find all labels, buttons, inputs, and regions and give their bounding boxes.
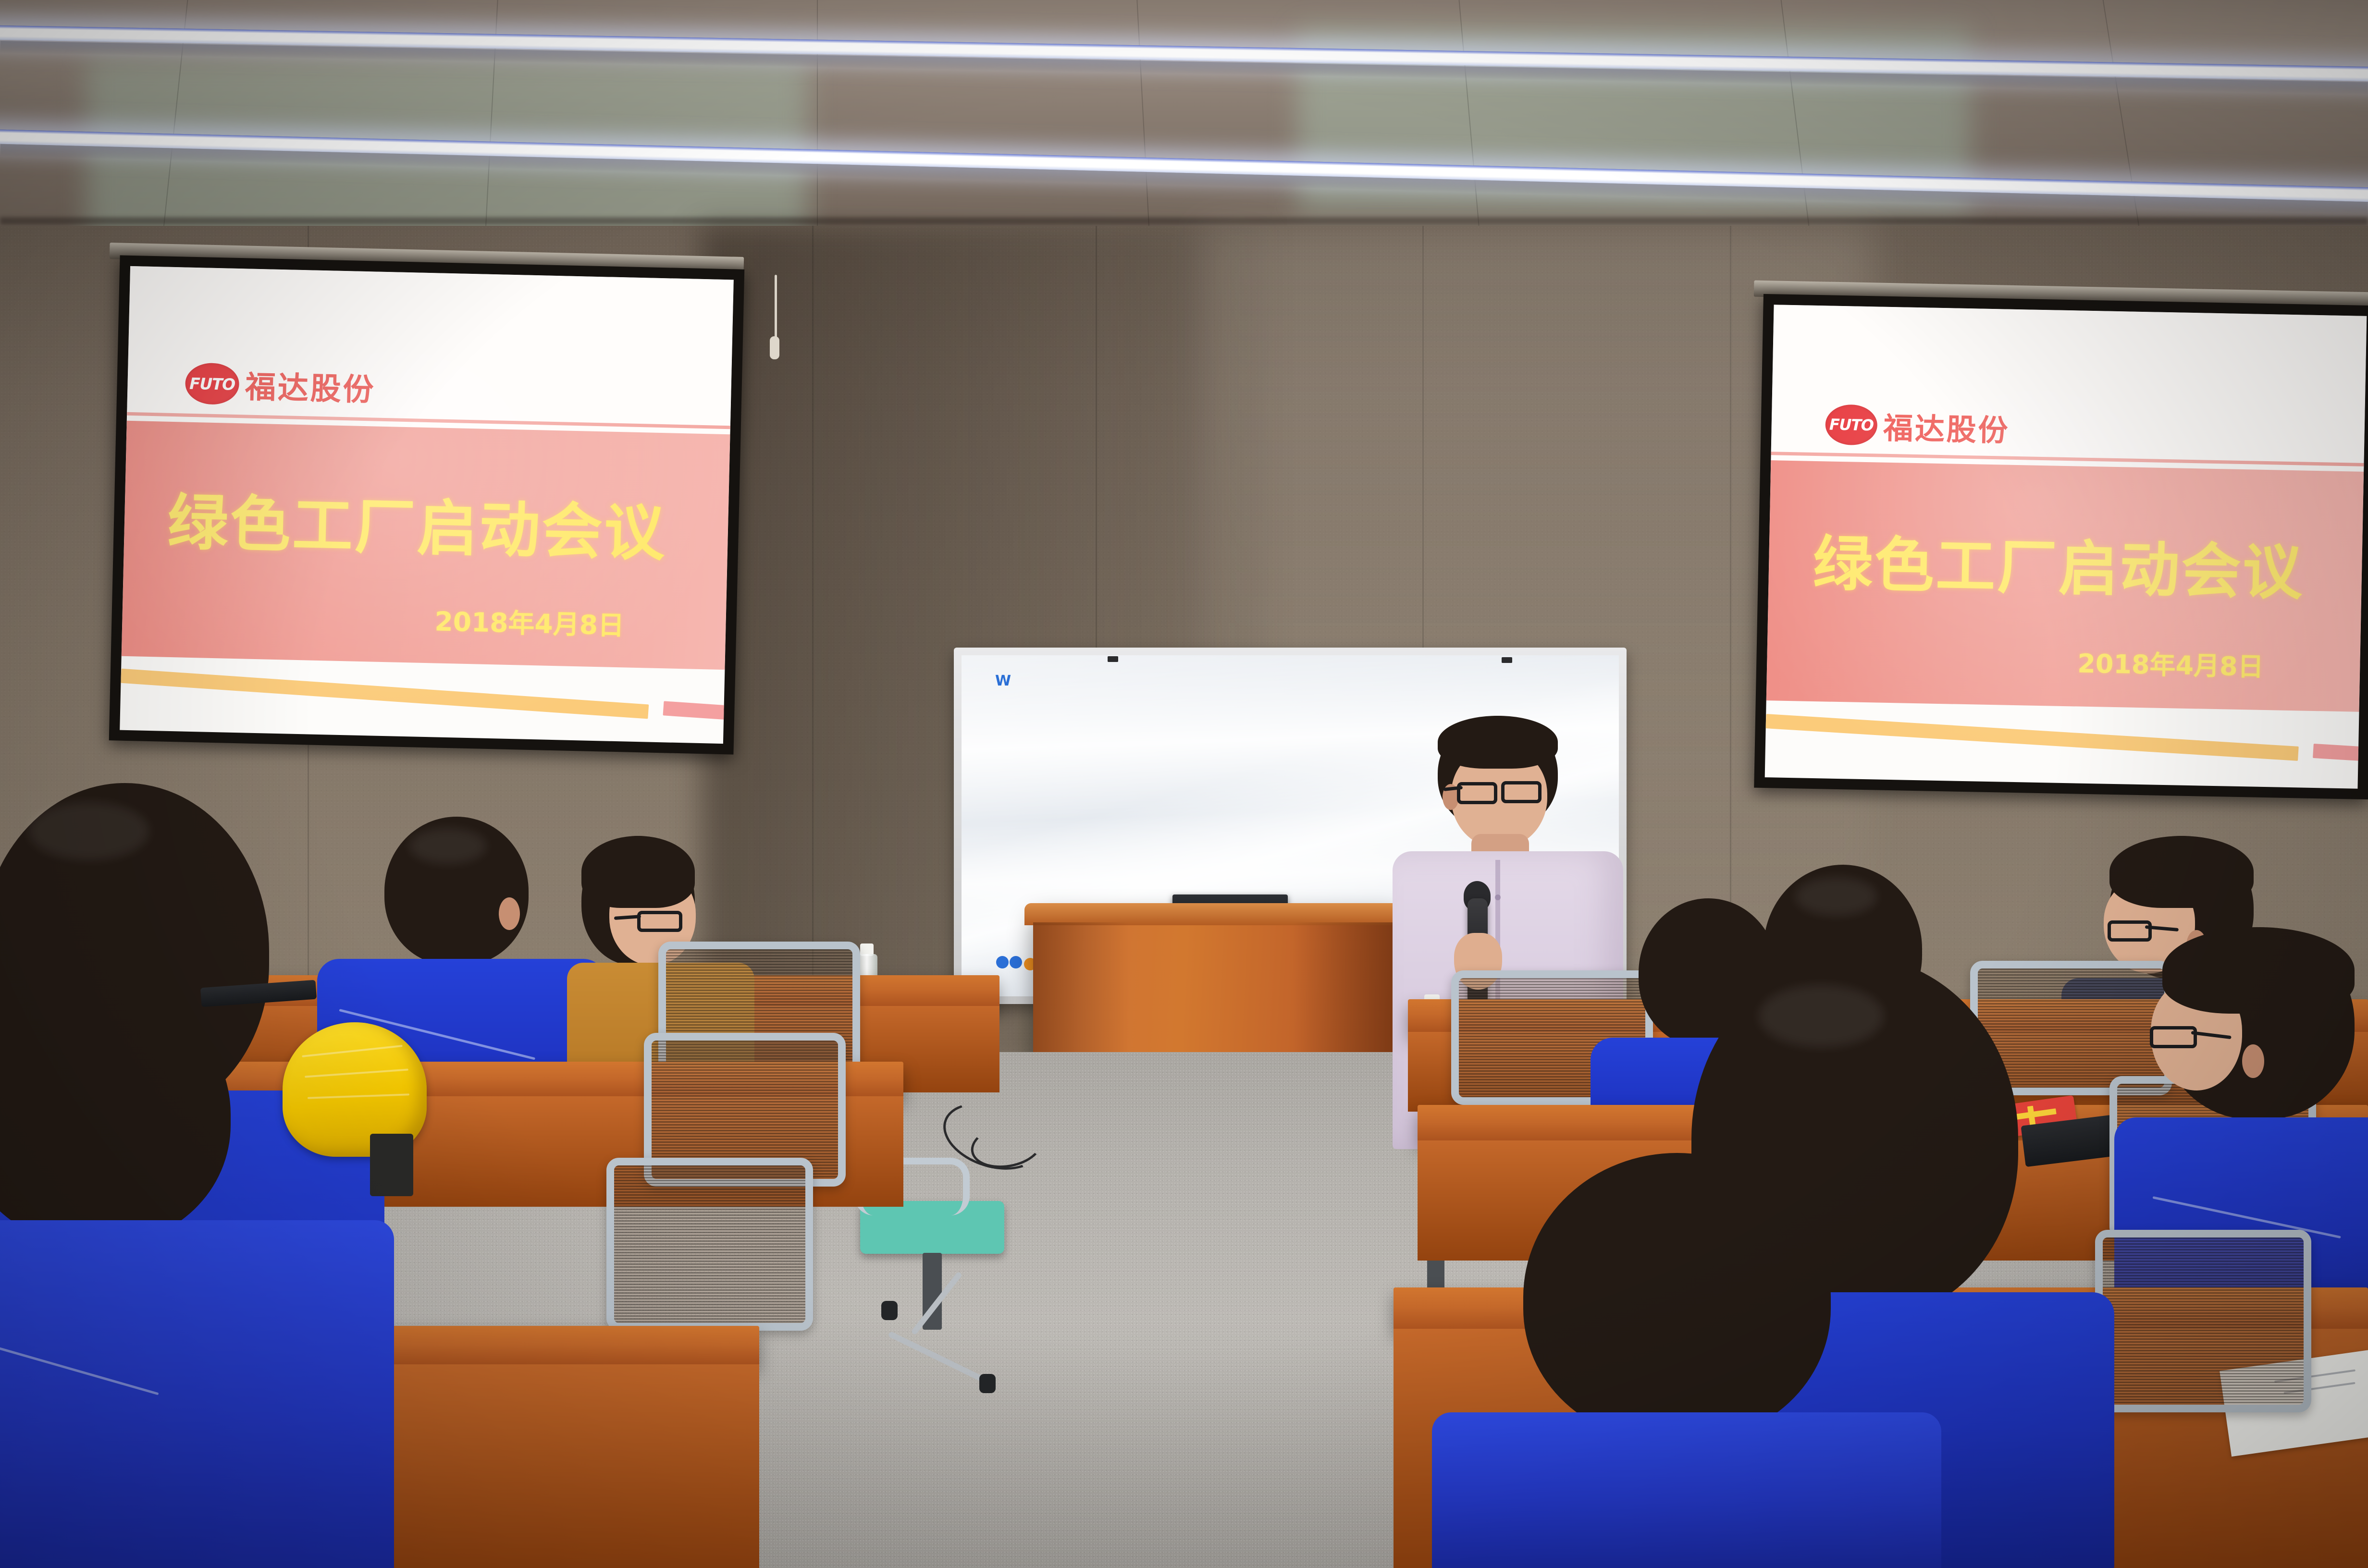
whiteboard-magnet[interactable] xyxy=(996,956,1009,968)
worker-blue-uniform-front-left-lower xyxy=(0,985,432,1568)
presenter-glasses xyxy=(1457,782,1497,804)
attendee-glasses xyxy=(637,911,682,932)
presenter-glasses xyxy=(1501,781,1542,803)
company-name-cn: 福达股份 xyxy=(245,362,376,409)
chair-left-front[interactable] xyxy=(606,1158,813,1350)
worker-blue-uniform-front-right xyxy=(1432,1153,1941,1568)
slide-date: 2018年4月8日 xyxy=(434,600,625,642)
whiteboard-magnet[interactable] xyxy=(1010,956,1022,968)
slide-date-right: 2018年4月8日 xyxy=(2077,642,2264,684)
screen-cord-weight[interactable] xyxy=(770,336,779,359)
blue-uniform-torso xyxy=(0,1220,394,1568)
company-name-cn-right: 福达股份 xyxy=(1883,404,2010,450)
chair-caster xyxy=(881,1301,898,1320)
futo-logo-text: FUTO xyxy=(189,374,235,393)
attendee-glasses xyxy=(2150,1026,2197,1048)
slide-right: FUTO 福达股份 绿色工厂启动会议 2018年4月8日 xyxy=(1765,305,2367,789)
office-chair-teal[interactable] xyxy=(826,1172,1028,1508)
left-projection-screen[interactable]: FUTO 福达股份 绿色工厂启动会议 2018年4月8日 xyxy=(101,250,745,759)
futo-logo-mark-right: FUTO xyxy=(1825,404,1878,445)
futo-logo-text-right: FUTO xyxy=(1829,416,1874,435)
slide-title-right: 绿色工厂启动会议 xyxy=(1813,515,2305,611)
chair-caster xyxy=(979,1374,996,1393)
futo-logo-mark: FUTO xyxy=(185,363,240,405)
right-projection-screen[interactable]: FUTO 福达股份 绿色工厂启动会议 2018年4月8日 xyxy=(1754,286,2368,805)
whiteboard-brand-logo: W xyxy=(995,673,1011,689)
conference-room-photo: FUTO 福达股份 绿色工厂启动会议 2018年4月8日 xyxy=(0,0,2368,1568)
slide-title: 绿色工厂启动会议 xyxy=(167,474,667,573)
blue-uniform-torso xyxy=(1432,1412,1941,1568)
slide-left: FUTO 福达股份 绿色工厂启动会议 2018年4月8日 xyxy=(120,266,734,744)
